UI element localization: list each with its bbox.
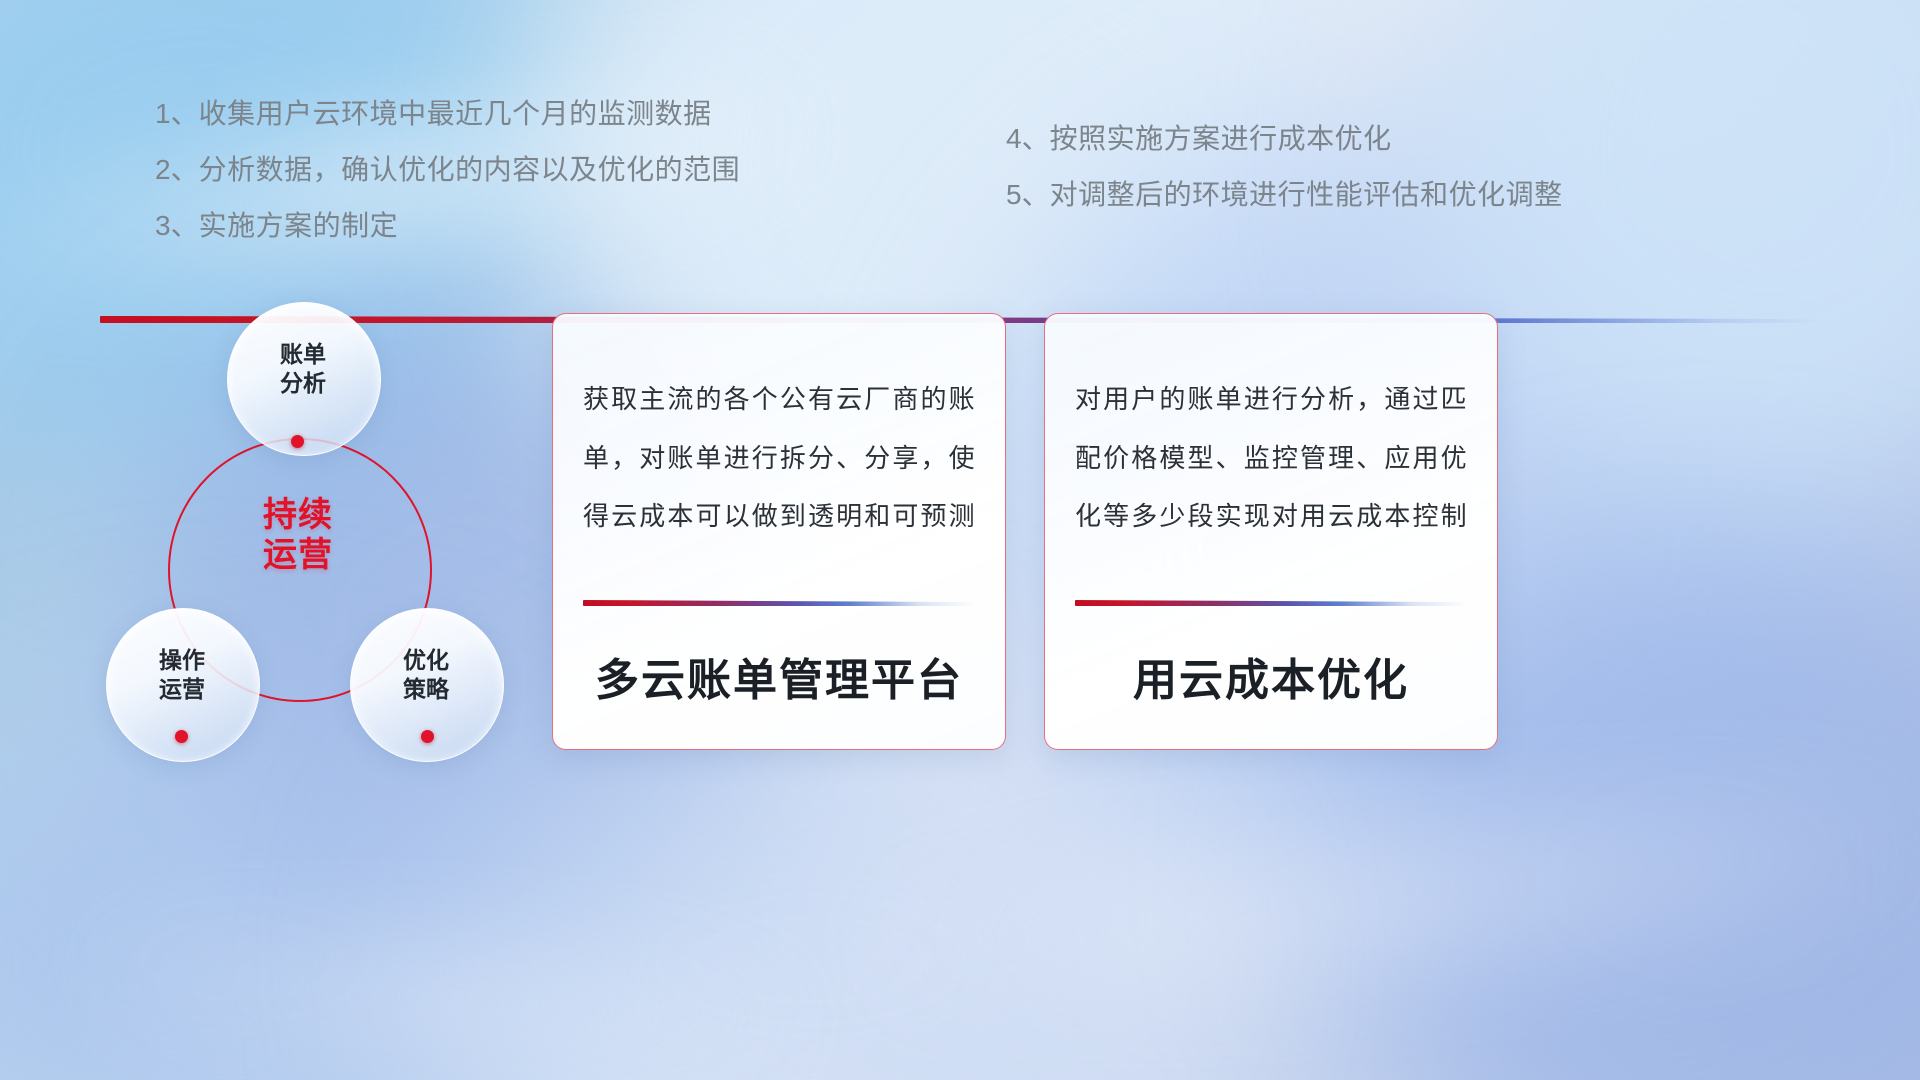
list-item-label: 按照实施方案进行成本优化 (1050, 123, 1392, 154)
venn-label-line: 操作 (102, 646, 262, 675)
card-body-text: 对用户的账单进行分析，通过匹配价格模型、监控管理、应用优化等多少段实现对用云成本… (1075, 370, 1467, 546)
venn-label-line: 策略 (346, 675, 506, 704)
venn-label-line: 优化 (346, 646, 506, 675)
venn-label-bottom-left: 操作 运营 (102, 646, 262, 704)
list-item-number: 5、 (1006, 179, 1050, 210)
list-item: 2、分析数据，确认优化的内容以及优化的范围 (155, 156, 740, 184)
list-item-label: 收集用户云环境中最近几个月的监测数据 (199, 98, 712, 129)
steps-list-left: 1、收集用户云环境中最近几个月的监测数据 2、分析数据，确认优化的内容以及优化的… (155, 100, 740, 268)
list-item-number: 3、 (155, 210, 199, 241)
card-title: 多云账单管理平台 (583, 644, 975, 708)
venn-node-dot-top (291, 435, 304, 448)
venn-label-top: 账单 分析 (223, 340, 383, 398)
card-divider (583, 600, 975, 606)
list-item-label: 对调整后的环境进行性能评估和优化调整 (1050, 179, 1563, 210)
list-item: 4、按照实施方案进行成本优化 (1006, 125, 1563, 153)
info-card-multicloud-billing[interactable]: 获取主流的各个公有云厂商的账单，对账单进行拆分、分享，使得云成本可以做到透明和可… (552, 313, 1006, 750)
venn-node-dot-bottom-left (175, 730, 188, 743)
venn-label-line: 账单 (223, 340, 383, 369)
info-card-cloud-cost-optimization[interactable]: 对用户的账单进行分析，通过匹配价格模型、监控管理、应用优化等多少段实现对用云成本… (1044, 313, 1498, 750)
list-item: 5、对调整后的环境进行性能评估和优化调整 (1006, 181, 1563, 209)
list-item-number: 1、 (155, 98, 199, 129)
list-item-label: 分析数据，确认优化的内容以及优化的范围 (199, 154, 741, 185)
venn-diagram: 账单 分析 操作 运营 优化 策略 持续 运营 (80, 290, 540, 780)
list-item: 1、收集用户云环境中最近几个月的监测数据 (155, 100, 740, 128)
list-item: 3、实施方案的制定 (155, 212, 740, 240)
venn-center-label: 持续 运营 (228, 495, 368, 575)
venn-label-line: 运营 (102, 675, 262, 704)
venn-label-bottom-right: 优化 策略 (346, 646, 506, 704)
list-item-number: 2、 (155, 154, 199, 185)
card-divider (1075, 600, 1467, 606)
steps-list-right: 4、按照实施方案进行成本优化 5、对调整后的环境进行性能评估和优化调整 (1006, 125, 1563, 237)
venn-center-label-line: 持续 (228, 495, 368, 535)
card-body-text: 获取主流的各个公有云厂商的账单，对账单进行拆分、分享，使得云成本可以做到透明和可… (583, 370, 975, 546)
venn-node-dot-bottom-right (421, 730, 434, 743)
list-item-label: 实施方案的制定 (199, 210, 399, 241)
venn-label-line: 分析 (223, 369, 383, 398)
venn-center-label-line: 运营 (228, 535, 368, 575)
list-item-number: 4、 (1006, 123, 1050, 154)
card-title: 用云成本优化 (1075, 644, 1467, 708)
